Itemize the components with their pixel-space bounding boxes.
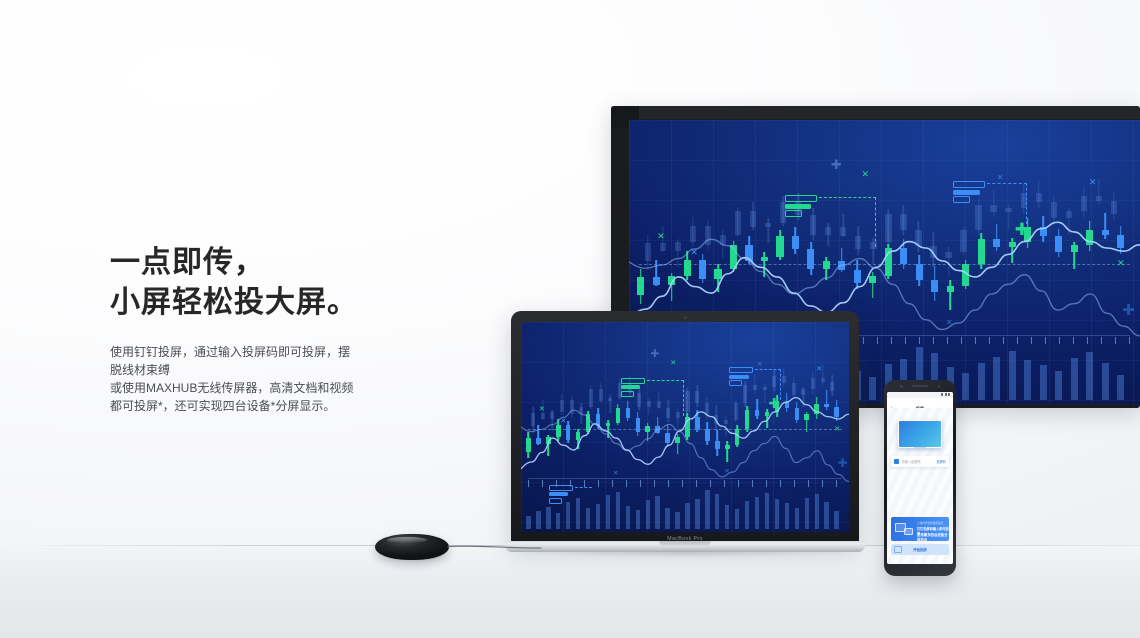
x-mark-icon: ✕ [690,248,698,257]
annotation-bar [729,367,753,373]
chart-annotation-chip [621,378,645,399]
annotation-bar [549,485,573,491]
status-indicators [941,393,950,396]
start-cast-label: 开始投屏 [913,547,927,552]
proximity-sensor-icon [938,385,941,388]
x-mark-icon: ✕ [670,359,676,366]
x-mark-icon: ✕ [1117,259,1125,268]
annotation-leader-line [987,183,1026,224]
tv-top-bar [611,106,1140,119]
annotation-bar [953,190,979,195]
x-mark-icon: ✕ [560,417,566,424]
headline-line-2: 小屏轻松投大屏。 [110,283,470,323]
screen-icon [894,546,902,553]
banner-line-1: 无线传屏器即插即投屏 [917,521,943,525]
battery-icon [948,393,950,396]
x-mark-icon: ✕ [657,232,665,241]
monitor-stand-icon [914,447,927,450]
start-cast-button[interactable]: 开始投屏 [891,544,949,555]
banner-device-shape [904,528,913,535]
plus-mark-icon: ✚ [838,457,848,469]
promo-banner[interactable]: 无线传屏器即插即投屏 钉钉投屏码输入即可投屏 支持最多四台设备分屏显示 [891,517,949,541]
dongle-highlight [387,537,427,543]
description-line-1: 使用钉钉投屏，通过输入投屏码即可投屏，摆 [110,343,470,361]
x-mark-icon: ✕ [862,170,870,179]
annotation-bar [621,385,640,389]
description-line-3: 或使用MAXHUB无线传屏器，高清文档和视频 [110,379,470,397]
laptop-chart-canvas: ✕✕✕✕✕✕✕✕✚✚✚ [521,322,849,532]
annotation-bar [729,375,748,379]
annotation-leader-line [647,380,684,417]
chart-annotation-chip [953,181,985,205]
phone-screen: ‹ 投屏 连接状态 请输入投屏码 投屏码 无线传屏器即插即投屏 [887,392,953,564]
annotation-bar [953,196,970,203]
dongle-cable [447,544,542,551]
x-mark-icon: ✕ [613,471,618,477]
phone-content-area: 请输入投屏码 投屏码 无线传屏器即插即投屏 钉钉投屏码输入即可投屏 支持最多四台… [887,408,953,564]
plus-mark-icon: ✚ [1015,221,1029,238]
x-mark-icon: ✕ [539,405,545,412]
cast-code-placeholder: 请输入投屏码 [902,459,937,464]
page-title: 一点即传， 小屏轻松投大屏。 [110,243,470,323]
description-line-2: 脱线材束缚 [110,361,470,379]
annotation-bar [785,210,802,217]
x-mark-icon: ✕ [946,319,953,327]
x-mark-icon: ✕ [724,469,729,475]
chart-annotation-chip [785,195,817,219]
monitor-icon [898,420,942,448]
phone-nav-bar: ‹ 投屏 连接状态 [887,398,953,408]
laptop-device: ✕✕✕✕✕✕✕✕✚✚✚ MacBook Pro [505,311,865,563]
annotation-bar [785,204,811,209]
hero-banner: 一点即传， 小屏轻松投大屏。 使用钉钉投屏，通过输入投屏码即可投屏，摆 脱线材束… [0,0,1140,638]
cast-code-action-label[interactable]: 投屏码 [936,459,946,464]
chart-annotation-chip [729,367,753,388]
annotation-bar [621,378,645,384]
plus-mark-icon: ✚ [831,158,842,171]
cast-devices-icon [895,523,913,535]
x-mark-icon: ✕ [834,425,840,432]
keypad-icon [894,459,899,464]
chart-annotation-chip [549,485,573,506]
wifi-icon [945,393,947,396]
cast-code-input[interactable]: 请输入投屏码 投屏码 [891,456,949,467]
laptop-lid: ✕✕✕✕✕✕✕✕✚✚✚ MacBook Pro [511,311,859,543]
plus-mark-icon: ✚ [651,350,660,360]
description-text: 使用钉钉投屏，通过输入投屏码即可投屏，摆 脱线材束缚 或使用MAXHUB无线传屏… [110,343,470,415]
annotation-leader-line [819,197,876,246]
marketing-copy: 一点即传， 小屏轻松投大屏。 使用钉钉投屏，通过输入投屏码即可投屏，摆 脱线材束… [110,243,470,415]
annotation-bar [953,181,985,188]
x-mark-icon: ✕ [757,362,762,368]
signal-icon [941,393,943,396]
plus-mark-icon: ✚ [769,397,780,411]
description-line-4: 都可投屏*，还可实现四台设备*分屏显示。 [110,397,470,415]
webcam-icon [684,316,687,319]
laptop-lid-notch [659,541,711,546]
annotation-leader-line [755,369,781,399]
laptop-screen: ✕✕✕✕✕✕✕✕✚✚✚ [521,322,849,532]
smartphone-device: ‹ 投屏 连接状态 请输入投屏码 投屏码 无线传屏器即插即投屏 [884,380,956,576]
wireless-dongle [375,534,449,560]
annotation-bar [549,498,562,504]
front-camera-icon [900,385,903,388]
earpiece-speaker-icon [912,385,928,387]
banner-line-3: 支持最多四台设备分屏显示 [917,532,949,542]
annotation-bar [549,492,568,496]
x-mark-icon: ✕ [1089,178,1097,187]
plus-mark-icon: ✚ [1122,303,1135,318]
laptop-shadow [499,552,871,560]
headline-line-1: 一点即传， [110,243,470,283]
annotation-bar [729,380,742,386]
x-mark-icon: ✕ [997,174,1004,182]
annotation-bar [785,195,817,202]
annotation-bar [621,391,634,397]
x-mark-icon: ✕ [816,365,822,372]
annotation-leader-line [575,487,592,488]
